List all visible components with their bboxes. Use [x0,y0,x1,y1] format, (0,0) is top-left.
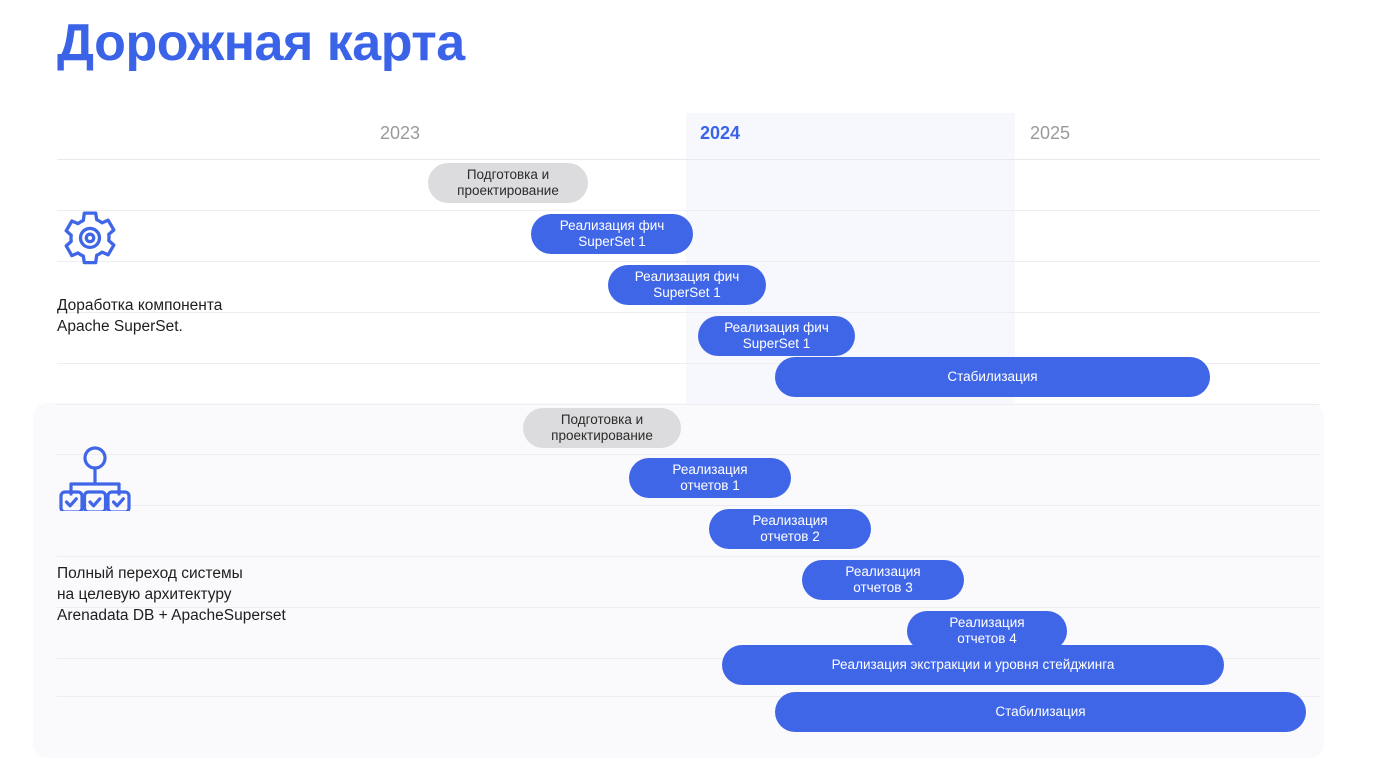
task-bar[interactable]: Реализация фич SuperSet 1 [608,265,766,305]
group-label-1: Доработка компонента Apache SuperSet. [57,295,357,337]
task-bar[interactable]: Стабилизация [775,692,1306,732]
roadmap-chart: 2023 2024 2025 Доработка компонента Apac… [0,113,1376,753]
task-bar[interactable]: Стабилизация [775,357,1210,397]
year-header-2024: 2024 [700,123,740,144]
task-bar[interactable]: Реализация фич SuperSet 1 [531,214,693,254]
timeline-header-divider [57,159,1320,160]
task-bar[interactable]: Реализация отчетов 1 [629,458,791,498]
row-divider [57,261,1320,262]
org-chart-icon [57,445,133,516]
row-divider [57,454,1320,455]
row-divider [57,404,1320,405]
year-header-2025: 2025 [1030,123,1070,144]
year-header-2023: 2023 [380,123,420,144]
row-divider [57,556,1320,557]
task-bar[interactable]: Реализация фич SuperSet 1 [698,316,855,356]
task-bar[interactable]: Подготовка и проектирование [428,163,588,203]
gear-icon [57,208,123,279]
group-label-2: Полный переход системы на целевую архите… [57,563,357,626]
page-title: Дорожная карта [57,14,465,74]
task-bar[interactable]: Реализация отчетов 3 [802,560,964,600]
row-divider [57,210,1320,211]
task-bar[interactable]: Реализация экстракции и уровня стейджинг… [722,645,1224,685]
row-divider [57,505,1320,506]
task-bar[interactable]: Подготовка и проектирование [523,408,681,448]
task-bar[interactable]: Реализация отчетов 2 [709,509,871,549]
